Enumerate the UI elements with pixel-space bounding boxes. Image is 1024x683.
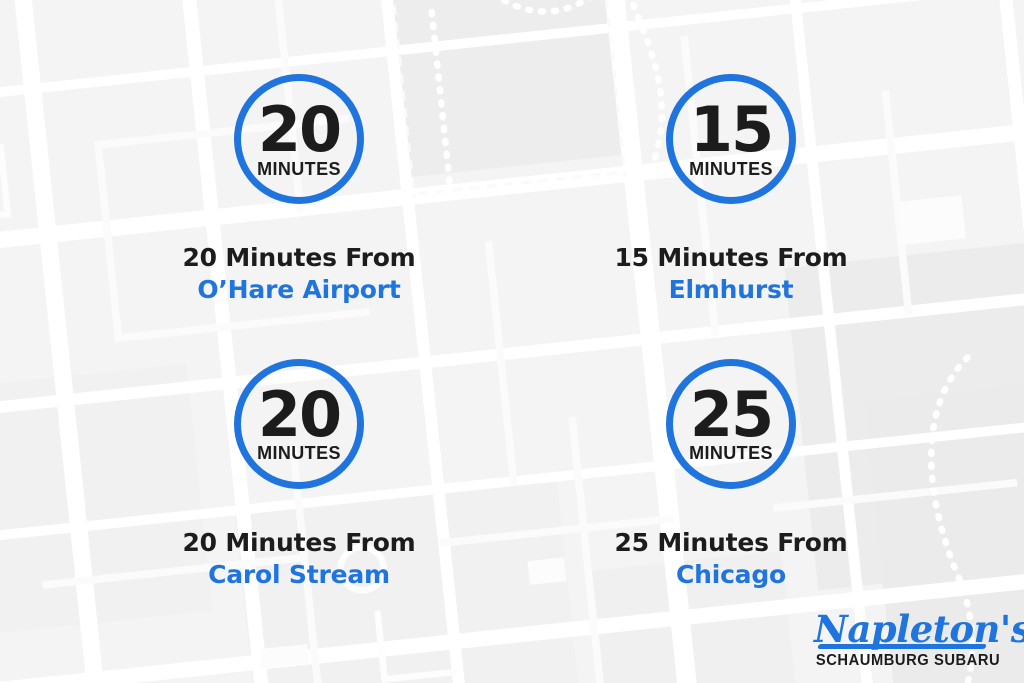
dealership-logo: Napleton's SCHAUMBURG SUBARU <box>808 611 1004 670</box>
minutes-badge-ohare: 20 MINUTES <box>234 74 364 204</box>
drive-time-card-ohare: 20 MINUTES 20 Minutes From O’Hare Airpor… <box>100 74 512 359</box>
badge-number: 20 <box>258 104 340 156</box>
drive-time-card-carol-stream: 20 MINUTES 20 Minutes From Carol Stream <box>100 359 512 644</box>
caption-line-primary: 20 Minutes From <box>182 242 415 274</box>
caption-line-location: Carol Stream <box>182 559 415 592</box>
logo-subtitle: SCHAUMBURG SUBARU <box>816 652 996 670</box>
drive-times-banner: 20 MINUTES 20 Minutes From O’Hare Airpor… <box>0 0 1024 683</box>
badge-unit-label: MINUTES <box>689 160 773 178</box>
caption-line-location: O’Hare Airport <box>182 274 415 307</box>
drive-time-card-chicago: 25 MINUTES 25 Minutes From Chicago <box>512 359 924 644</box>
caption-line-primary: 15 Minutes From <box>614 242 847 274</box>
caption-line-primary: 20 Minutes From <box>182 527 415 559</box>
caption-line-location: Elmhurst <box>614 274 847 307</box>
badge-unit-label: MINUTES <box>257 444 341 462</box>
badge-unit-label: MINUTES <box>257 160 341 178</box>
minutes-badge-elmhurst: 15 MINUTES <box>666 74 796 204</box>
logo-swash-underline <box>817 644 986 649</box>
caption-elmhurst: 15 Minutes From Elmhurst <box>614 242 847 307</box>
badge-number: 25 <box>690 389 772 441</box>
badge-unit-label: MINUTES <box>689 444 773 462</box>
caption-line-location: Chicago <box>614 559 847 592</box>
caption-carol-stream: 20 Minutes From Carol Stream <box>182 527 415 592</box>
minutes-badge-carol-stream: 20 MINUTES <box>234 359 364 489</box>
caption-line-primary: 25 Minutes From <box>614 527 847 559</box>
drive-time-grid: 20 MINUTES 20 Minutes From O’Hare Airpor… <box>0 0 1024 683</box>
caption-chicago: 25 Minutes From Chicago <box>614 527 847 592</box>
drive-time-card-elmhurst: 15 MINUTES 15 Minutes From Elmhurst <box>512 74 924 359</box>
caption-ohare: 20 Minutes From O’Hare Airport <box>182 242 415 307</box>
badge-number: 20 <box>258 389 340 441</box>
badge-number: 15 <box>690 104 772 156</box>
minutes-badge-chicago: 25 MINUTES <box>666 359 796 489</box>
logo-wordmark: Napleton's <box>808 611 1004 648</box>
